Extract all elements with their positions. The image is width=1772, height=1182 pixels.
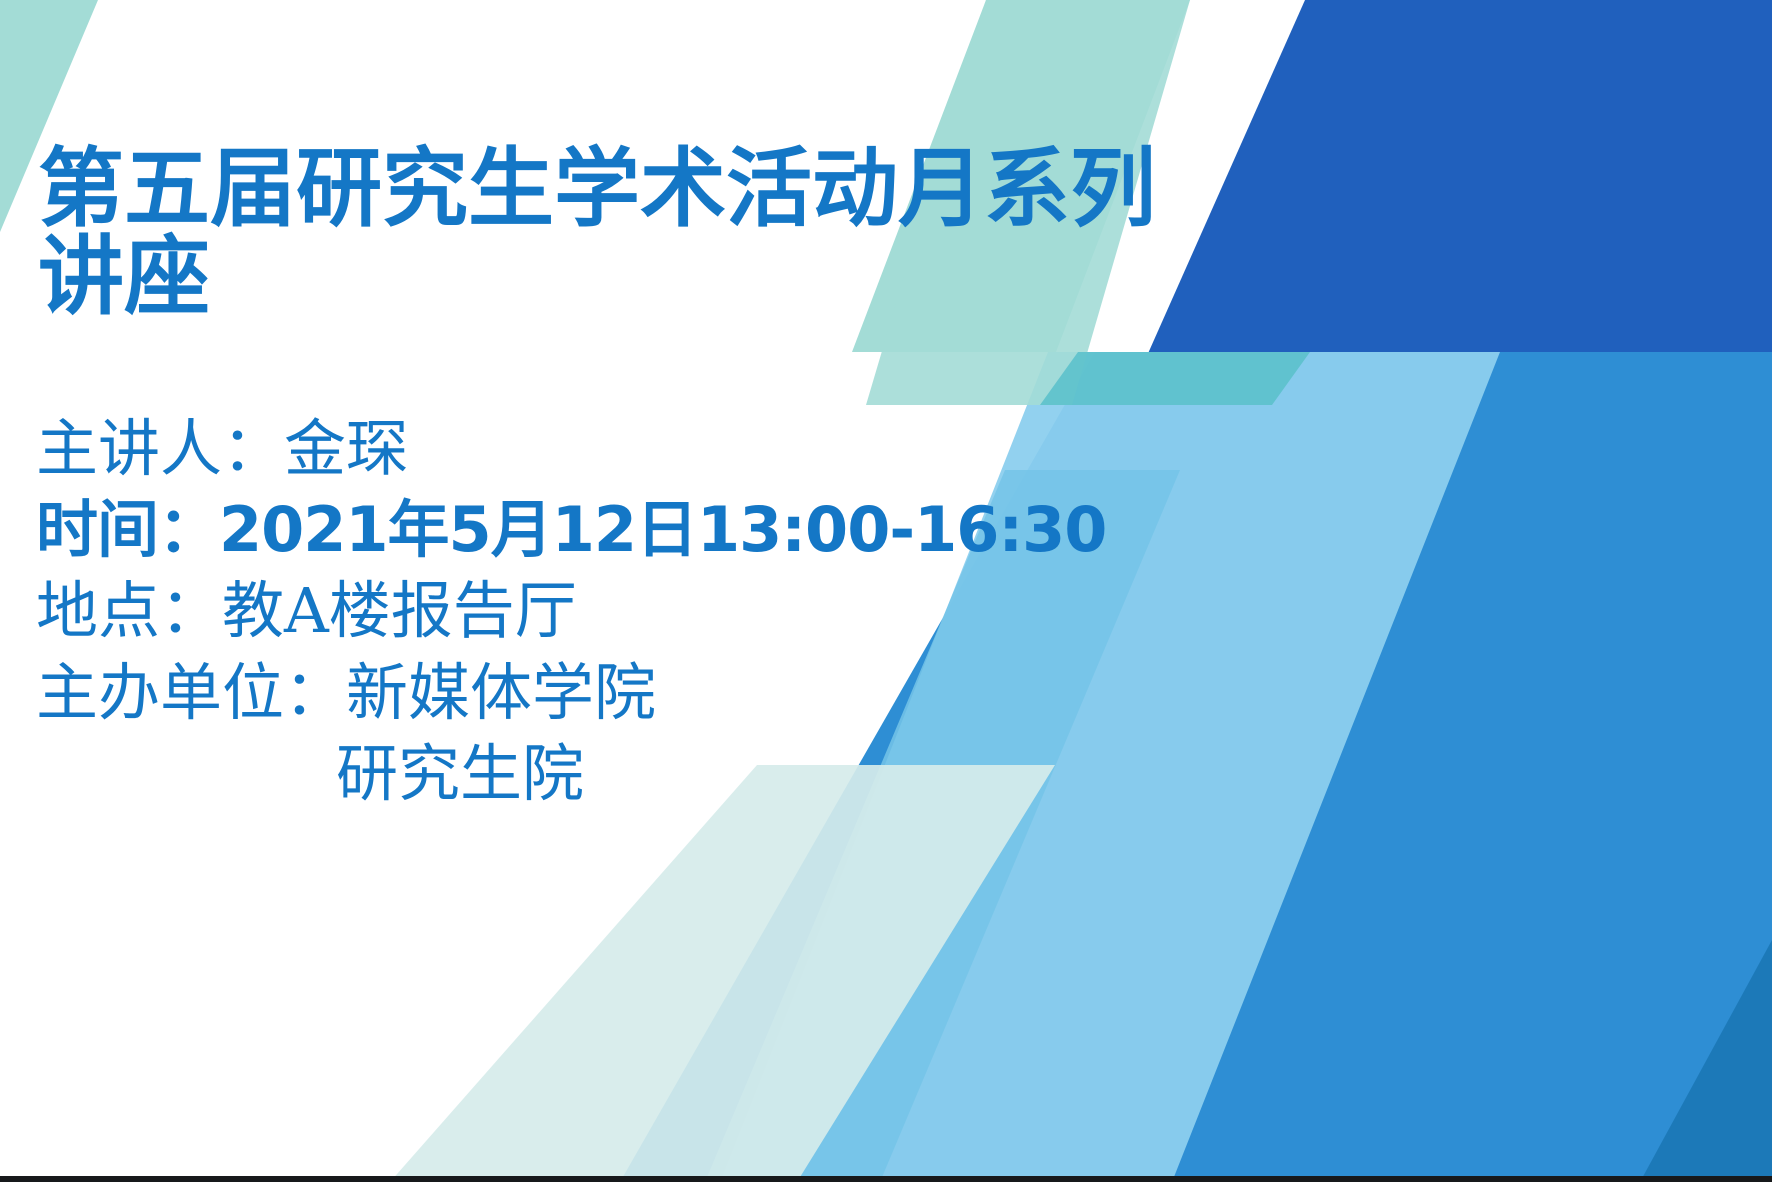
decorative-background	[0, 0, 1772, 1182]
teal-blue-overlap-patch	[1040, 352, 1310, 405]
top-left-teal-wedge	[0, 0, 98, 232]
bottom-dark-rule	[0, 1176, 1772, 1182]
presentation-slide: 第五届研究生学术活动月系列 讲座 主讲人：金琛 时间：2021年5月12日13:…	[0, 0, 1772, 1182]
